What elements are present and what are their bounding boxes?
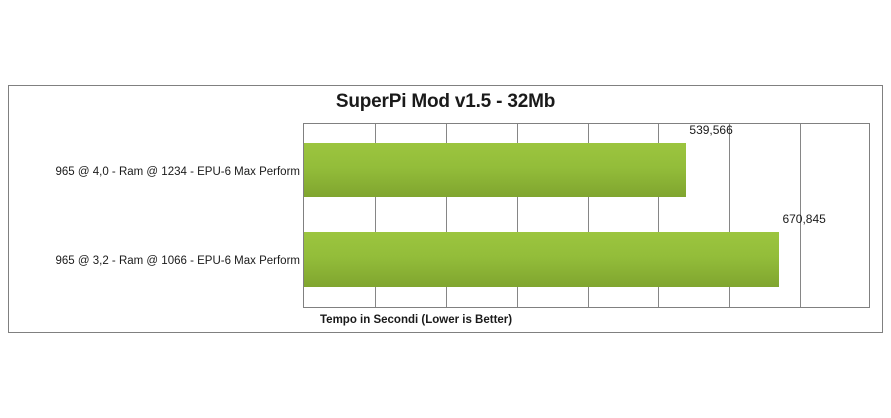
value-label-1: 670,845: [782, 212, 825, 226]
x-axis-title: Tempo in Secondi (Lower is Better): [320, 314, 512, 326]
category-label-1: 965 @ 3,2 - Ram @ 1066 - EPU-6 Max Perfo…: [20, 255, 300, 267]
chart-title: SuperPi Mod v1.5 - 32Mb: [9, 91, 882, 113]
chart-frame: SuperPi Mod v1.5 - 32Mb 965 @ 4,0 - Ram …: [8, 85, 883, 333]
bar-1: [304, 232, 779, 287]
bar-0: [304, 143, 686, 197]
category-label-0: 965 @ 4,0 - Ram @ 1234 - EPU-6 Max Perfo…: [20, 166, 300, 178]
value-label-0: 539,566: [689, 123, 732, 137]
